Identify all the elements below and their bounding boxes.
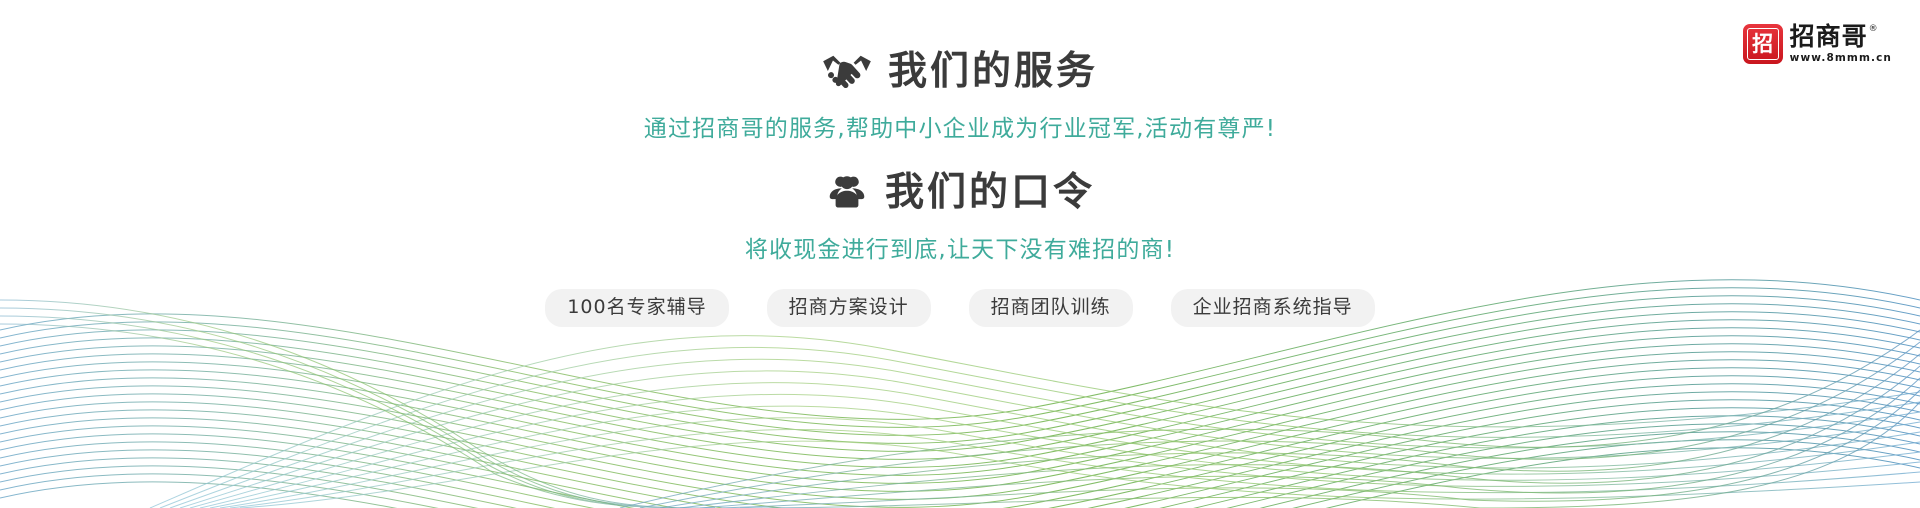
brand-logo[interactable]: 招 招商哥 ® www.8mmm.cn: [1743, 24, 1892, 64]
registered-trademark-icon: ®: [1869, 25, 1879, 34]
section-title: 我们的服务: [888, 52, 1098, 91]
logo-text-group: 招商哥 ® www.8mmm.cn: [1790, 24, 1892, 64]
tag-plan-design[interactable]: 招商方案设计: [767, 289, 931, 327]
service-tag-list: 100名专家辅导 招商方案设计 招商团队训练 企业招商系统指导: [0, 289, 1920, 327]
section-headline: 我们的服务: [0, 44, 1920, 98]
users-icon: [825, 172, 869, 212]
section-title: 我们的口令: [885, 173, 1095, 212]
section-headline: 我们的口令: [0, 165, 1920, 219]
logo-mark-char: 招: [1752, 34, 1773, 55]
section-subtitle: 将收现金进行到底,让天下没有难招的商!: [0, 239, 1920, 262]
logo-brand-name-text: 招商哥: [1790, 24, 1868, 50]
logo-brand-name: 招商哥 ®: [1790, 24, 1892, 50]
section-our-motto: 我们的口令 将收现金进行到底,让天下没有难招的商!: [0, 165, 1920, 262]
logo-mark-icon: 招: [1743, 24, 1783, 64]
section-subtitle: 通过招商哥的服务,帮助中小企业成为行业冠军,活动有尊严!: [0, 118, 1920, 141]
banner-content: 我们的服务 通过招商哥的服务,帮助中小企业成为行业冠军,活动有尊严!: [0, 0, 1920, 327]
handshake-icon: [822, 51, 872, 91]
service-banner: 招 招商哥 ® www.8mmm.cn: [0, 0, 1920, 508]
tag-system-guidance[interactable]: 企业招商系统指导: [1171, 289, 1375, 327]
tag-expert-coaching[interactable]: 100名专家辅导: [545, 289, 728, 327]
tag-team-training[interactable]: 招商团队训练: [969, 289, 1133, 327]
section-our-service: 我们的服务 通过招商哥的服务,帮助中小企业成为行业冠军,活动有尊严!: [0, 44, 1920, 141]
logo-website-url: www.8mmm.cn: [1790, 52, 1892, 64]
